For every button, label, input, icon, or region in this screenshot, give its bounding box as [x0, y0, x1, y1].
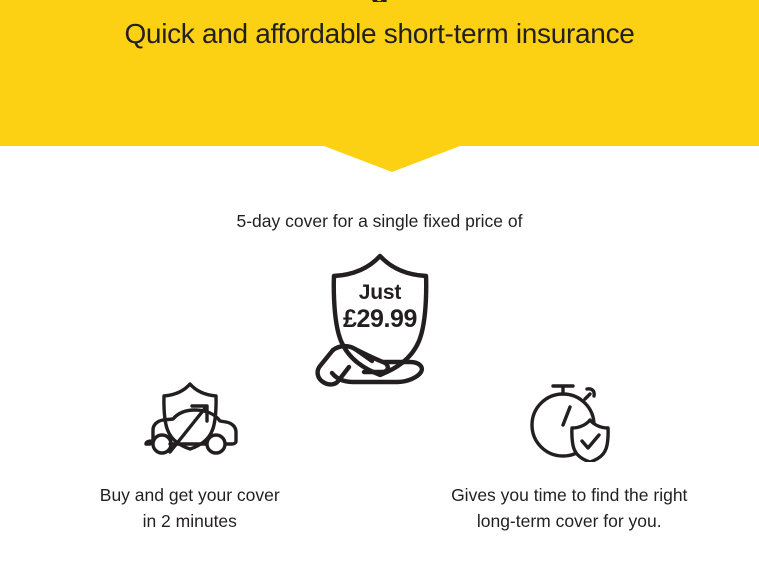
feature-caption-buy-fast: Buy and get your cover in 2 minutes [100, 482, 280, 534]
price-badge: Just £29.99 [309, 249, 451, 391]
feature-item-time-to-choose: Gives you time to find the right long-te… [380, 378, 759, 534]
car-shield-arrow-icon [140, 380, 240, 458]
feature-caption-line-2: in 2 minutes [100, 508, 280, 534]
feature-caption-line-2: long-term cover for you. [451, 508, 687, 534]
feature-icon-wrapper [138, 378, 242, 460]
header-banner: g Quick and affordable short-term insura… [0, 0, 759, 146]
feature-icon-wrapper [517, 378, 621, 460]
feature-item-buy-fast: Buy and get your cover in 2 minutes [0, 378, 380, 534]
main-content: 5-day cover for a single fixed price of … [0, 146, 759, 569]
price-lede-text: 5-day cover for a single fixed price of [0, 209, 759, 233]
feature-list: Buy and get your cover in 2 minutes [0, 378, 759, 534]
banner-truncated-headline-above: g [0, 0, 759, 2]
feature-caption-line-1: Buy and get your cover [100, 482, 280, 508]
shield-in-hand-icon [309, 249, 451, 391]
banner-headline: Quick and affordable short-term insuranc… [0, 17, 759, 51]
feature-caption-line-1: Gives you time to find the right [451, 482, 687, 508]
feature-caption-time-to-choose: Gives you time to find the right long-te… [451, 482, 687, 534]
stopwatch-shield-check-icon [521, 376, 617, 462]
